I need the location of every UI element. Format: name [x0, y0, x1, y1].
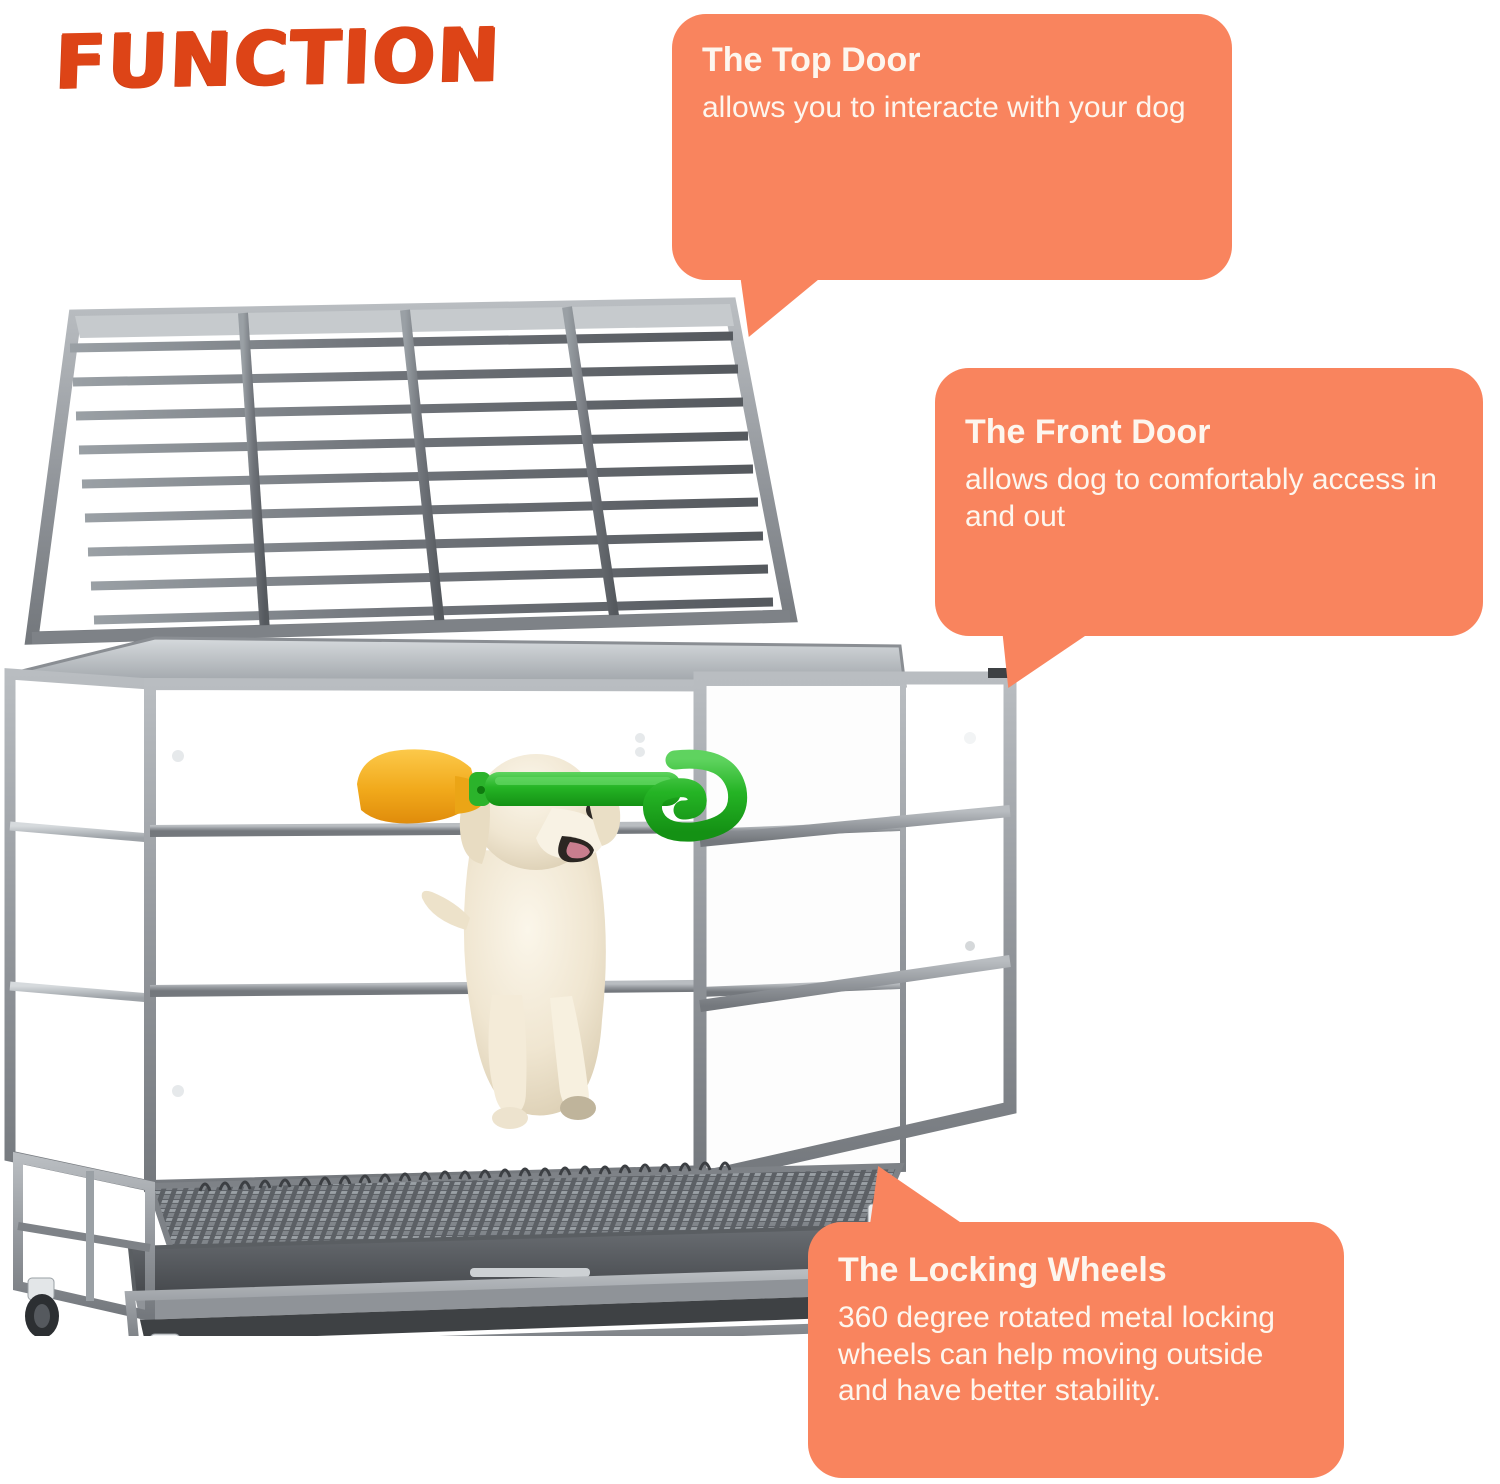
callout-top-door: The Top Door allows you to interacte wit… [672, 14, 1232, 280]
callout-locking-wheels-body: 360 degree rotated metal locking wheels … [838, 1300, 1314, 1410]
callout-front-door-heading: The Front Door [965, 412, 1453, 452]
caster-wheel-rear-left [25, 1278, 59, 1336]
callout-front-door-tail [1002, 626, 1107, 688]
callout-locking-wheels-bubble: The Locking Wheels 360 degree rotated me… [808, 1222, 1344, 1478]
callout-locking-wheels-heading: The Locking Wheels [838, 1250, 1314, 1290]
toy-shovel [345, 740, 765, 870]
callout-locking-wheels: The Locking Wheels 360 degree rotated me… [808, 1222, 1344, 1478]
callout-top-door-heading: The Top Door [702, 40, 1202, 80]
callout-front-door: The Front Door allows dog to comfortably… [935, 368, 1483, 636]
callout-top-door-tail [739, 269, 841, 337]
callout-top-door-bubble: The Top Door allows you to interacte wit… [672, 14, 1232, 280]
top-door-panel [32, 304, 790, 638]
page-title: FUNCTION [53, 12, 502, 106]
callout-front-door-body: allows dog to comfortably access in and … [965, 462, 1453, 535]
callout-top-door-body: allows you to interacte with your dog [702, 90, 1202, 127]
left-side-panel [10, 674, 150, 1186]
callout-front-door-bubble: The Front Door allows dog to comfortably… [935, 368, 1483, 636]
callout-locking-wheels-tail [870, 1166, 974, 1226]
